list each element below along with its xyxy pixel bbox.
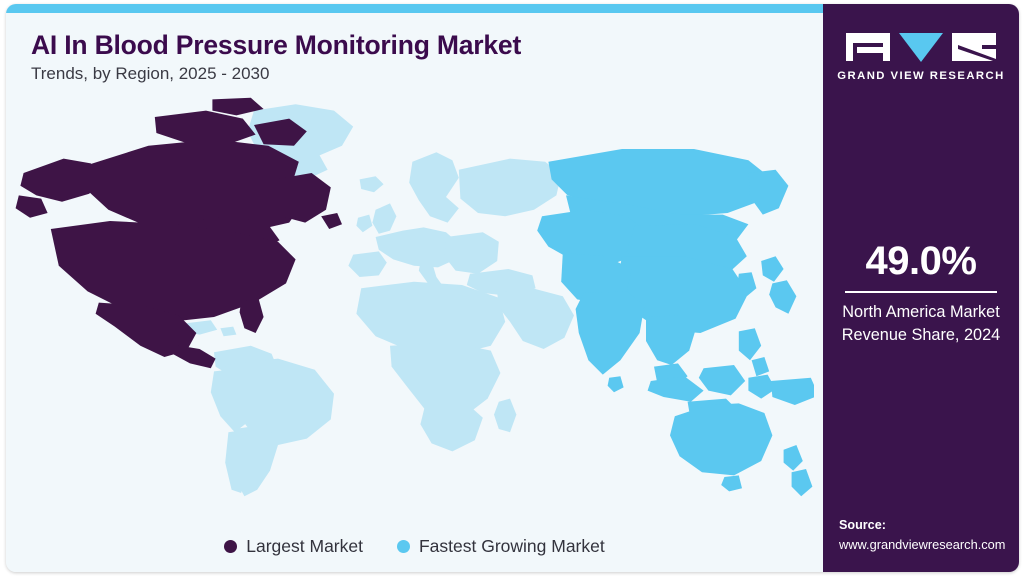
map-legend: Largest Market Fastest Growing Market [6,536,823,557]
source-url[interactable]: www.grandviewresearch.com [839,535,1019,554]
stat-divider [845,291,997,293]
map-region-fastest-growing-market [537,149,814,496]
top-accent-bar [6,4,823,13]
legend-item-fastest-growing-market: Fastest Growing Market [397,536,605,557]
source-block: Source: www.grandviewresearch.com [839,516,1019,554]
infographic-card: AI In Blood Pressure Monitoring Market T… [6,4,1019,572]
logo-wordmark: GRAND VIEW RESEARCH [823,70,1019,82]
source-label: Source: [839,516,1019,535]
legend-label-fastest-growing-market: Fastest Growing Market [419,536,605,557]
legend-dot-largest-market [224,540,237,553]
stat-value: 49.0% [823,240,1019,282]
legend-dot-fastest-growing-market [397,540,410,553]
stat-caption-line-1: North America Market [823,301,1019,324]
map-panel: AI In Blood Pressure Monitoring Market T… [6,4,823,572]
brand-logo: GRAND VIEW RESEARCH [823,31,1019,82]
page-subtitle: Trends, by Region, 2025 - 2030 [31,64,269,84]
stat-block: 49.0% North America Market Revenue Share… [823,240,1019,347]
page-title: AI In Blood Pressure Monitoring Market [31,30,521,61]
side-panel: GRAND VIEW RESEARCH 49.0% North America … [823,4,1019,572]
stat-caption-line-2: Revenue Share, 2024 [823,324,1019,347]
world-map [14,96,814,506]
legend-label-largest-market: Largest Market [246,536,363,557]
gvr-logo-icon [846,31,996,63]
legend-item-largest-market: Largest Market [224,536,363,557]
map-region-largest-market [16,98,342,368]
